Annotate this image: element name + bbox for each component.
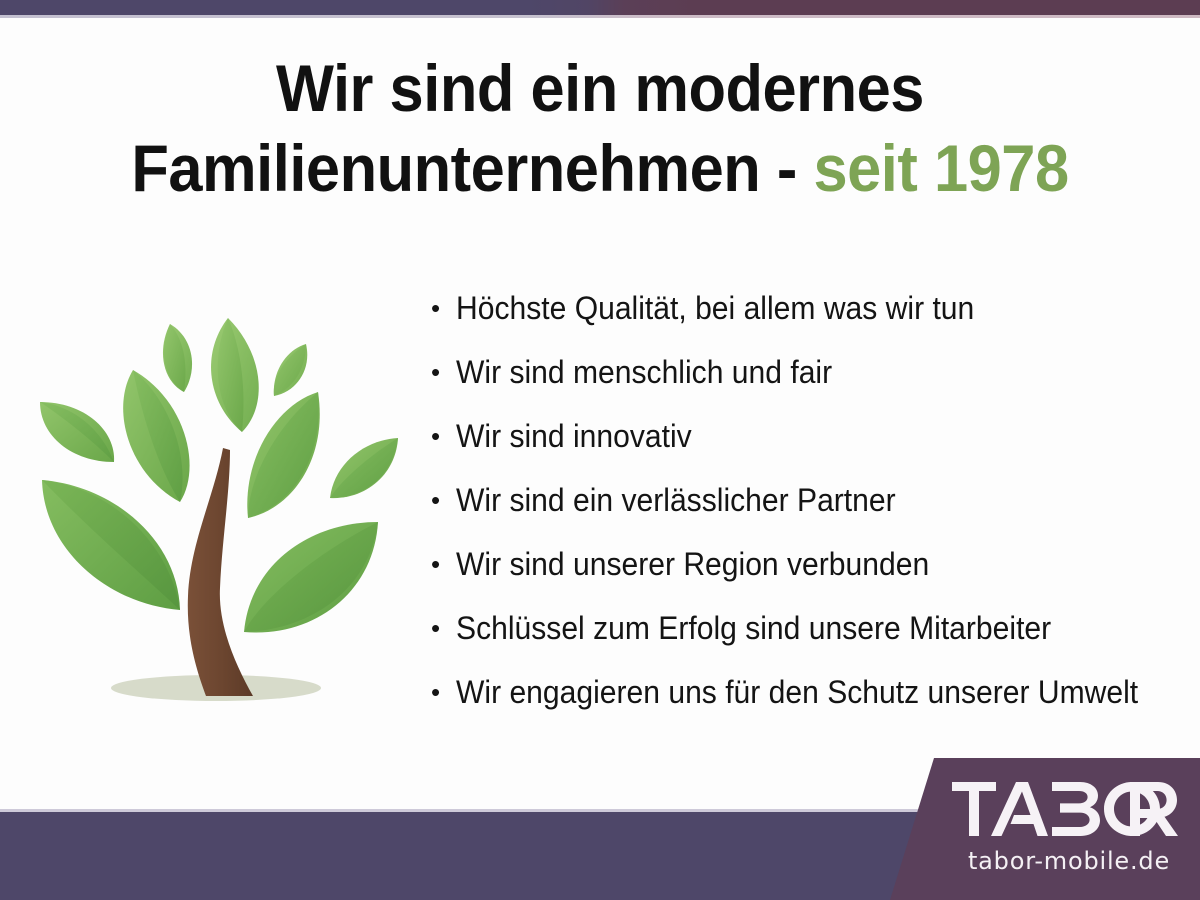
slide-canvas: Wir sind ein modernes Familienunternehme… bbox=[0, 0, 1200, 900]
list-item: • Wir sind menschlich und fair bbox=[428, 350, 1188, 414]
page-title-line-2: Familienunternehmen - seit 1978 bbox=[42, 128, 1158, 208]
bullet-icon: • bbox=[428, 606, 456, 650]
bullet-icon: • bbox=[428, 350, 456, 394]
top-bar-underline bbox=[0, 15, 1200, 18]
list-item: • Wir sind unserer Region verbunden bbox=[428, 542, 1188, 606]
list-item-label: Wir sind unserer Region verbunden bbox=[456, 542, 929, 586]
bullet-icon: • bbox=[428, 414, 456, 458]
bullet-icon: • bbox=[428, 670, 456, 714]
tabor-wordmark-icon bbox=[952, 782, 1184, 836]
tree-trunk bbox=[188, 448, 253, 696]
list-item: • Höchste Qualität, bei allem was wir tu… bbox=[428, 286, 1188, 350]
top-gradient-bar bbox=[0, 0, 1200, 15]
list-item: • Wir sind innovativ bbox=[428, 414, 1188, 478]
page-title: Wir sind ein modernes Familienunternehme… bbox=[0, 48, 1200, 208]
list-item-label: Wir engagieren uns für den Schutz unsere… bbox=[456, 670, 1138, 714]
page-title-line-1: Wir sind ein modernes bbox=[42, 48, 1158, 128]
bullet-icon: • bbox=[428, 542, 456, 586]
bullet-icon: • bbox=[428, 286, 456, 330]
brand-tagline: tabor-mobile.de bbox=[954, 846, 1184, 876]
list-item: • Schlüssel zum Erfolg sind unsere Mitar… bbox=[428, 606, 1188, 670]
list-item-label: Wir sind menschlich und fair bbox=[456, 350, 832, 394]
page-title-accent: seit 1978 bbox=[813, 131, 1068, 205]
list-item: • Wir engagieren uns für den Schutz unse… bbox=[428, 670, 1188, 734]
list-item-label: Wir sind ein verlässlicher Partner bbox=[456, 478, 896, 522]
bullet-icon: • bbox=[428, 478, 456, 522]
tree-logo bbox=[18, 296, 418, 716]
list-item-label: Wir sind innovativ bbox=[456, 414, 692, 458]
list-item: • Wir sind ein verlässlicher Partner bbox=[428, 478, 1188, 542]
list-item-label: Schlüssel zum Erfolg sind unsere Mitarbe… bbox=[456, 606, 1051, 650]
list-item-label: Höchste Qualität, bei allem was wir tun bbox=[456, 286, 974, 330]
page-title-line-2-main: Familienunternehmen - bbox=[131, 131, 813, 205]
value-list: • Höchste Qualität, bei allem was wir tu… bbox=[428, 286, 1188, 734]
